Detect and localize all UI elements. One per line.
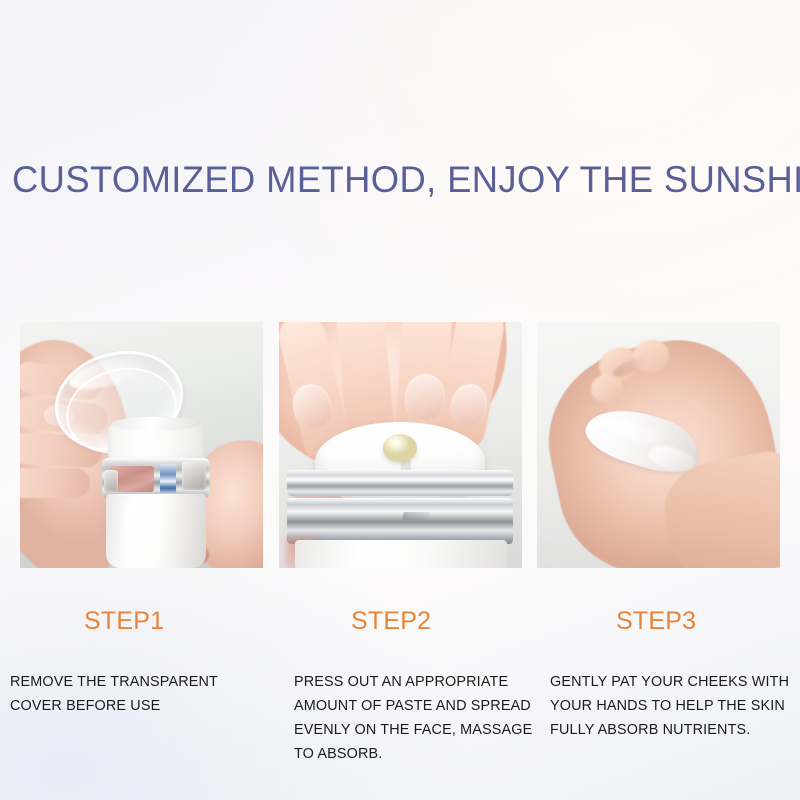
- jar-highlight: [124, 500, 140, 564]
- jar-chrome-band: [287, 470, 513, 496]
- jar-chrome-band: [287, 498, 513, 544]
- step-label-2: STEP2: [351, 607, 431, 636]
- step-photo-3: [537, 322, 780, 568]
- cream-dollop: [383, 434, 417, 462]
- step-description-1: REMOVE THE TRANSPARENT COVER BEFORE USE: [10, 670, 260, 718]
- step-photo-1: [20, 322, 263, 568]
- band-blue-reflection: [160, 464, 176, 494]
- step-label-1: STEP1: [84, 607, 164, 636]
- jar-logo-mark: [402, 512, 429, 520]
- step-description-3: GENTLY PAT YOUR CHEEKS WITH YOUR HANDS T…: [550, 670, 800, 742]
- step-label-3: STEP3: [616, 607, 696, 636]
- step-photo-2: [279, 322, 522, 568]
- finger-shape: [20, 468, 90, 498]
- step-description-2: PRESS OUT AN APPROPRIATE AMOUNT OF PASTE…: [294, 670, 544, 766]
- band-tab-reflection: [104, 470, 118, 492]
- step-label-row: STEP1 STEP2 STEP3: [0, 607, 800, 647]
- cream-jar: [102, 422, 210, 568]
- jar-body: [295, 540, 507, 568]
- band-tab-reflection: [182, 462, 206, 490]
- page-title: CUSTOMIZED METHOD, ENJOY THE SUNSHINE: [12, 158, 788, 201]
- step-photo-row: [20, 322, 780, 568]
- jar-body: [106, 494, 206, 568]
- product-usage-infographic: CUSTOMIZED METHOD, ENJOY THE SUNSHINE: [0, 0, 800, 800]
